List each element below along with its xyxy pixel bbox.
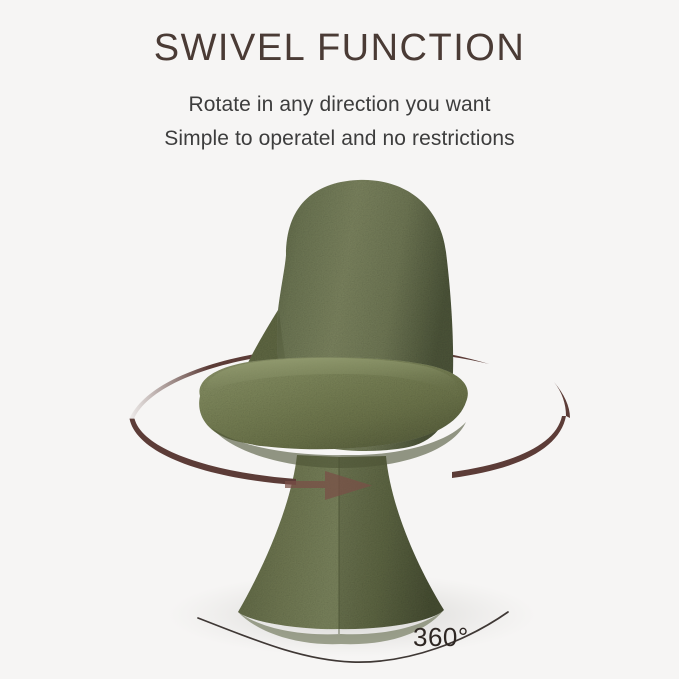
subtitle-line-2: Simple to operatel and no restrictions <box>0 127 679 151</box>
chair-graphic <box>199 180 468 644</box>
product-feature-image: SWIVEL FUNCTION Rotate in any direction … <box>0 0 679 679</box>
subtitle-line-1: Rotate in any direction you want <box>0 93 679 117</box>
product-illustration-stage: 360° <box>0 160 679 679</box>
page-title: SWIVEL FUNCTION <box>0 27 679 71</box>
chair-scene-svg <box>0 160 679 679</box>
rotation-degree-label: 360° <box>413 622 469 653</box>
